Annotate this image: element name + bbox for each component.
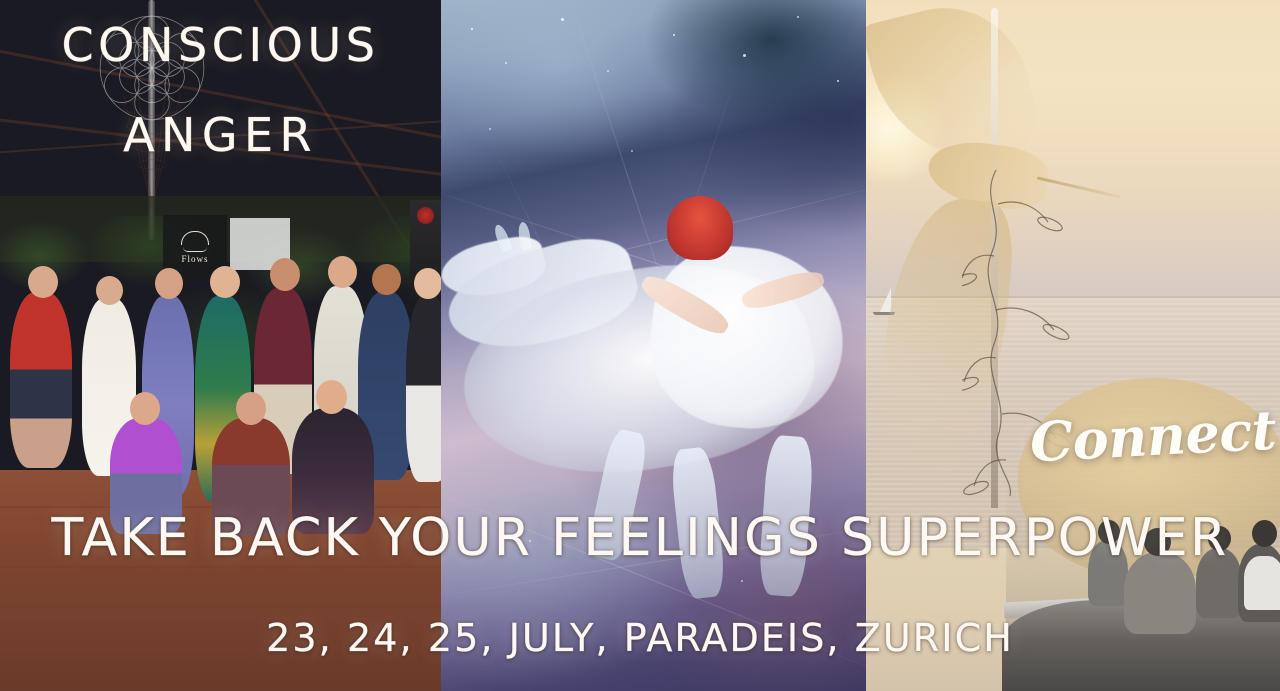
panel-shadow-work[interactable]: SHADOW WORK <box>441 0 866 691</box>
person-head <box>96 276 123 305</box>
person-head <box>236 392 266 425</box>
headline-anger: ANGER <box>0 108 441 162</box>
sunrise-icon <box>181 231 209 245</box>
flows-sign-label: Flows <box>181 254 208 264</box>
wave-icon <box>183 247 207 252</box>
banner-tagline: TAKE BACK YOUR FEELINGS SUPERPOWER <box>0 508 1280 568</box>
person-head <box>414 268 441 299</box>
panel-space-holder-training[interactable]: SPACE HOLDER TRAINING <box>866 0 1280 691</box>
event-poster: Flows <box>0 0 1280 691</box>
person-head <box>28 266 58 298</box>
person-head <box>155 268 183 299</box>
rider-red-hair <box>667 196 733 260</box>
person-head <box>372 264 401 295</box>
person-head <box>210 266 240 298</box>
person-back-row <box>406 296 441 482</box>
person-head <box>316 380 347 414</box>
person-head <box>328 256 357 288</box>
panel-conscious-anger[interactable]: Flows <box>0 0 441 691</box>
headline-conscious: CONSCIOUS <box>0 18 441 72</box>
banner-date-venue: 23, 24, 25, JULY, PARADEIS, ZURICH <box>0 616 1280 660</box>
person-head <box>130 392 160 425</box>
person-back-row <box>10 292 72 468</box>
connect-script-word: Connect <box>1028 398 1277 475</box>
person-head <box>270 258 300 291</box>
